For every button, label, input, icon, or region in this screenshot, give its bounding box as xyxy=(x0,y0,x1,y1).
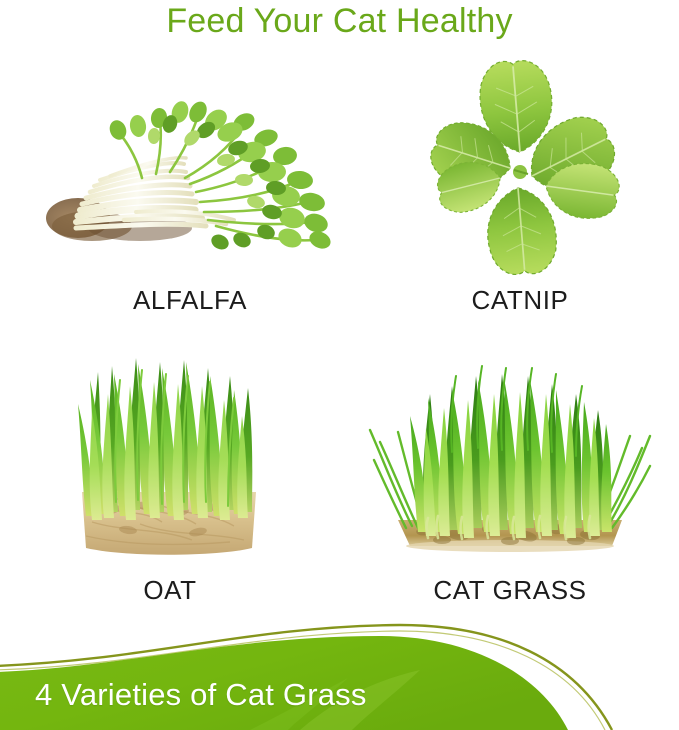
bottom-banner: 4 Varieties of Cat Grass xyxy=(0,620,679,730)
alfalfa-sprouts-photo xyxy=(20,60,360,280)
product-label-catnip: CATNIP xyxy=(360,285,679,316)
product-label-oat: OAT xyxy=(20,575,320,606)
product-card-oat: OAT xyxy=(20,332,320,622)
page-title: Feed Your Cat Healthy xyxy=(0,2,679,41)
catnip-leaves-photo xyxy=(360,60,679,280)
cat-grass-photo xyxy=(340,332,679,572)
product-label-cat-grass: CAT GRASS xyxy=(340,575,679,606)
product-card-cat-grass: CAT GRASS xyxy=(340,332,679,622)
product-card-catnip: CATNIP xyxy=(360,60,679,330)
banner-headline: 4 Varieties of Cat Grass xyxy=(35,677,367,713)
product-grid: ALFALFA xyxy=(0,56,679,626)
product-card-alfalfa: ALFALFA xyxy=(20,60,360,330)
oat-grass-photo xyxy=(20,332,320,572)
product-label-alfalfa: ALFALFA xyxy=(20,285,360,316)
